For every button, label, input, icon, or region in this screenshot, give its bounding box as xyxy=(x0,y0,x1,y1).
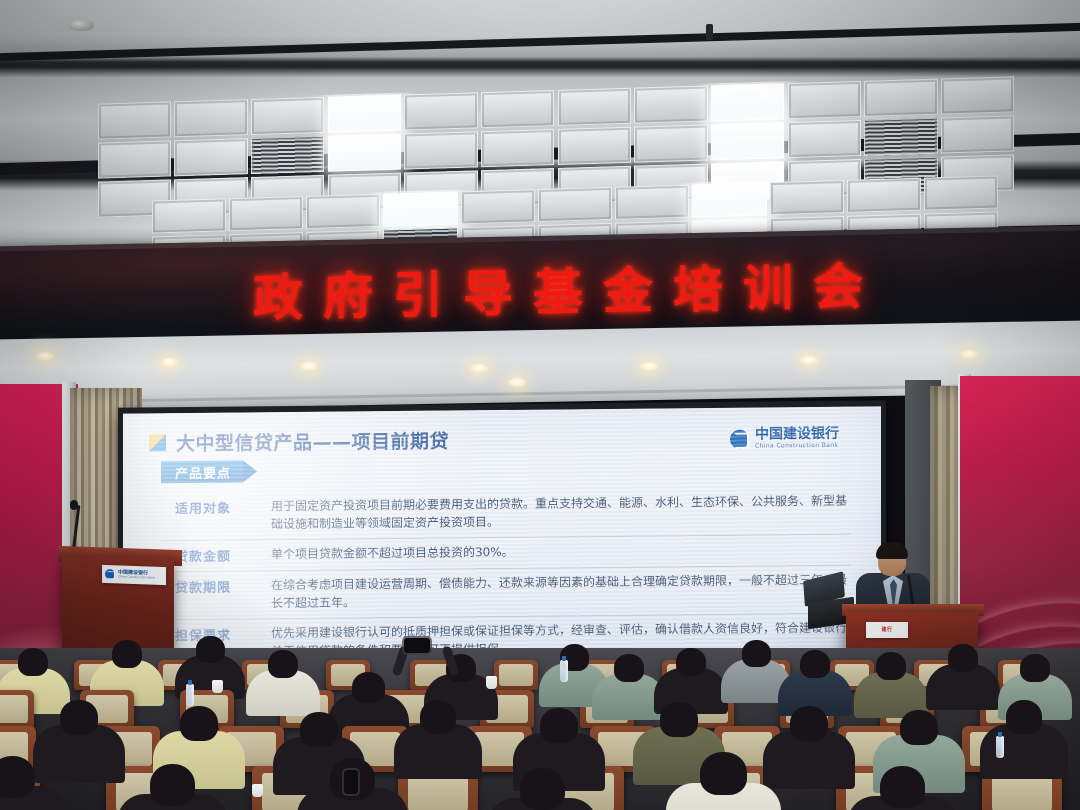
ceiling-light-panel xyxy=(692,182,766,217)
ceiling-light-panel xyxy=(383,191,457,226)
projector-lens-icon xyxy=(508,378,526,387)
ccb-name-cn: 中国建设银行 xyxy=(755,427,839,442)
audience-person-head xyxy=(196,636,225,663)
ceiling-panel xyxy=(847,177,921,212)
ceiling-panel xyxy=(404,131,478,170)
ceiling-panel xyxy=(558,87,632,126)
ceiling-panel xyxy=(404,92,478,131)
ceiling-light-panel xyxy=(328,94,402,133)
conference-hall-photo: 政府引导基金培训会 大中型信贷产品——项目前期贷 中国建设银行 China Co… xyxy=(0,0,1080,810)
audience-chair xyxy=(494,660,538,690)
ceiling-panel xyxy=(770,180,844,215)
audience-person-head xyxy=(742,640,771,667)
slide-row-value: 用于固定资产投资项目前期必要费用支出的贷款。重点支持交通、能源、水利、生态环保、… xyxy=(271,492,851,534)
audience-person-head xyxy=(0,756,35,798)
audience-person-head xyxy=(800,650,830,678)
ccb-logo: 中国建设银行 China Construction Bank xyxy=(730,427,839,450)
right-red-wall-panel xyxy=(960,376,1080,688)
ceiling-panel xyxy=(481,90,555,129)
ceiling-panel xyxy=(461,189,535,224)
ceiling-panel xyxy=(788,120,862,159)
downlight-icon xyxy=(470,364,488,373)
audience-person-head xyxy=(900,710,938,745)
projection-screen: 大中型信贷产品——项目前期贷 中国建设银行 China Construction… xyxy=(123,406,881,661)
water-bottle xyxy=(996,736,1004,758)
ccb-mark-icon xyxy=(730,429,749,448)
downlight-icon xyxy=(640,362,658,371)
slide-bullet-icon xyxy=(149,434,166,451)
slide-row-label: 适用对象 xyxy=(161,497,271,517)
right-podium-plate-text: 建行 xyxy=(866,622,908,638)
audience-person-head xyxy=(660,702,698,737)
downlight-icon xyxy=(300,362,318,371)
slide-row: 贷款期限在综合考虑项目建设运营周期、偿债能力、还款来源等因素的基础上合理确定贷款… xyxy=(161,566,851,621)
paper-cup xyxy=(486,676,497,689)
ceiling-light-panel xyxy=(711,122,785,161)
ceiling-panel xyxy=(941,76,1015,115)
audience-person-head xyxy=(790,706,828,741)
ceiling-panel xyxy=(98,101,172,140)
downlight-icon xyxy=(160,358,178,367)
slide-row-value: 在综合考虑项目建设运营周期、偿债能力、还款来源等因素的基础上合理确定贷款期限，一… xyxy=(271,571,851,613)
audience-person-head xyxy=(60,700,98,735)
ceiling-panel xyxy=(152,198,226,233)
ceiling-light-panel xyxy=(711,83,785,122)
smartphone-icon xyxy=(344,770,358,794)
ceiling-panel xyxy=(174,138,248,177)
ccb-mark-icon xyxy=(105,569,115,579)
audience-person-head xyxy=(520,768,565,810)
water-bottle xyxy=(186,684,194,706)
podium-plate-en: China Construction Bank xyxy=(118,575,155,579)
ceiling-panel xyxy=(788,80,862,119)
audience-person-head xyxy=(1006,700,1042,734)
speaker-hair xyxy=(876,542,908,559)
audience-person-head xyxy=(180,706,218,741)
ceiling-panel xyxy=(924,175,998,210)
ceiling-panel xyxy=(864,78,938,117)
ceiling-panel xyxy=(538,186,612,221)
ceiling-panel xyxy=(634,124,708,163)
slide-row-label: 贷款期限 xyxy=(161,576,271,596)
slide-row: 适用对象用于固定资产投资项目前期必要费用支出的贷款。重点支持交通、能源、水利、生… xyxy=(161,487,851,542)
audience-person-head xyxy=(880,766,925,808)
ceiling-panel xyxy=(615,184,689,219)
ceiling-speaker-icon xyxy=(706,24,713,40)
downlight-icon xyxy=(960,350,978,359)
ceiling-panel xyxy=(634,85,708,124)
ceiling xyxy=(0,0,1080,258)
downlight-icon xyxy=(36,352,54,361)
ccb-name-en: China Construction Bank xyxy=(755,443,839,450)
audience-person-head xyxy=(18,648,48,676)
slide-content-table: 适用对象用于固定资产投资项目前期必要费用支出的贷款。重点支持交通、能源、水利、生… xyxy=(161,487,851,662)
slide-title: 大中型信贷产品——项目前期贷 xyxy=(176,427,449,457)
smoke-detector-icon xyxy=(68,20,94,31)
ceiling-panel xyxy=(251,96,325,135)
left-podium-brand-plate: 中国建设银行 China Construction Bank xyxy=(102,565,166,585)
audience-person-head xyxy=(614,654,644,682)
ceiling-light-panel xyxy=(328,133,402,172)
audience-person-head xyxy=(700,752,747,795)
audience-person-head xyxy=(948,644,978,672)
ceiling-panel xyxy=(558,127,632,166)
smartphone-icon xyxy=(404,638,430,653)
water-bottle xyxy=(560,660,568,682)
paper-cup xyxy=(212,680,223,693)
paper-cup xyxy=(252,784,263,797)
audience-person-head xyxy=(1020,654,1050,682)
ceiling-beam-upper xyxy=(0,23,1080,61)
ceiling-vent xyxy=(864,117,938,156)
audience-person-head xyxy=(676,648,706,676)
audience-person-head xyxy=(420,700,456,734)
audience-person-head xyxy=(300,712,338,747)
ceiling-panel xyxy=(98,140,172,179)
slide-section-tag: 产品要点 xyxy=(161,460,243,483)
downlight-icon xyxy=(800,356,818,365)
ceiling-panel xyxy=(174,99,248,138)
ceiling-panel xyxy=(941,115,1015,154)
audience-person-head xyxy=(268,650,298,678)
audience-person-head xyxy=(150,764,195,806)
audience-person-head xyxy=(540,708,578,743)
audience-person-head xyxy=(112,640,142,668)
slide-row-value: 单个项目贷款金额不超过项目总投资的30%。 xyxy=(271,540,851,564)
audience-person-head xyxy=(876,652,906,680)
ceiling-panel xyxy=(481,129,555,168)
right-podium-plate: 建行 xyxy=(866,622,908,638)
audience-person-head xyxy=(352,672,385,703)
ceiling-panel xyxy=(229,196,303,231)
ceiling-vent xyxy=(251,136,325,175)
audience-chair xyxy=(0,690,34,728)
ceiling-panel xyxy=(306,193,380,228)
